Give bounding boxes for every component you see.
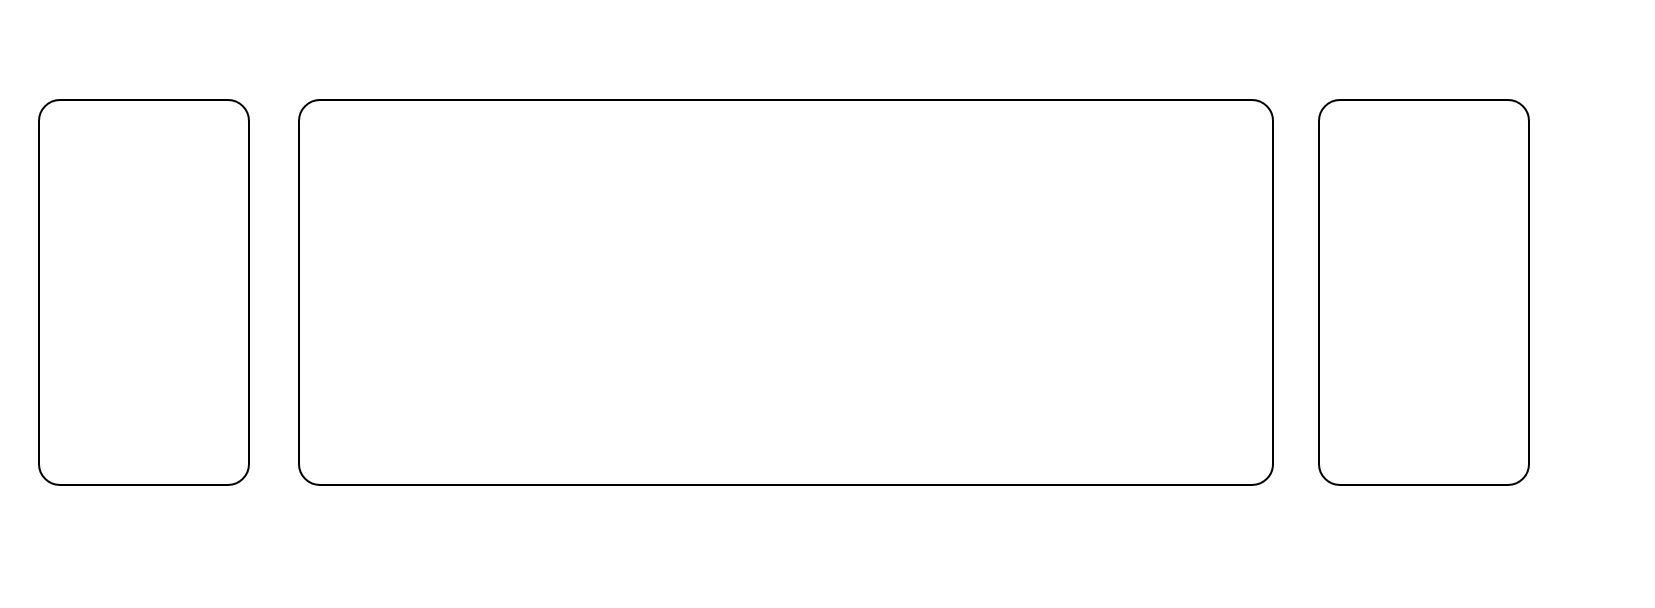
panel-instantiations [298, 99, 1274, 486]
panel-universal-ib [38, 99, 250, 486]
panel-alternative-fused-ib [1318, 99, 1530, 486]
legend [0, 514, 1655, 586]
